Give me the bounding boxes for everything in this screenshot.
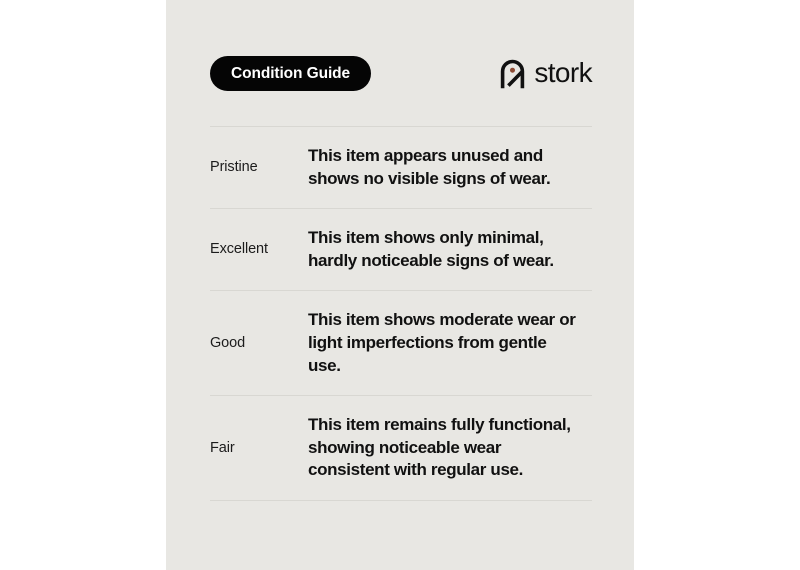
stork-arch-logo-icon [499,58,526,89]
brand-lockup: stork [499,56,592,91]
table-row: Fair This item remains fully functional,… [210,396,592,500]
condition-label: Excellent [210,240,308,259]
condition-label: Good [210,334,308,353]
condition-guide-badge: Condition Guide [210,56,371,91]
brand-wordmark: stork [534,59,592,87]
condition-table: Pristine This item appears unused and sh… [210,126,592,501]
condition-guide-card: Condition Guide stork Pristine This item… [166,0,634,570]
table-row: Excellent This item shows only minimal, … [210,209,592,290]
condition-description: This item appears unused and shows no vi… [308,145,592,190]
condition-label: Fair [210,439,308,458]
card-header: Condition Guide stork [210,56,592,92]
condition-description: This item shows only minimal, hardly not… [308,227,592,272]
condition-label: Pristine [210,158,308,177]
condition-description: This item remains fully functional, show… [308,414,592,482]
page-root: Condition Guide stork Pristine This item… [0,0,800,570]
table-row: Pristine This item appears unused and sh… [210,127,592,208]
table-divider [210,500,592,501]
table-row: Good This item shows moderate wear or li… [210,291,592,395]
condition-description: This item shows moderate wear or light i… [308,309,592,377]
